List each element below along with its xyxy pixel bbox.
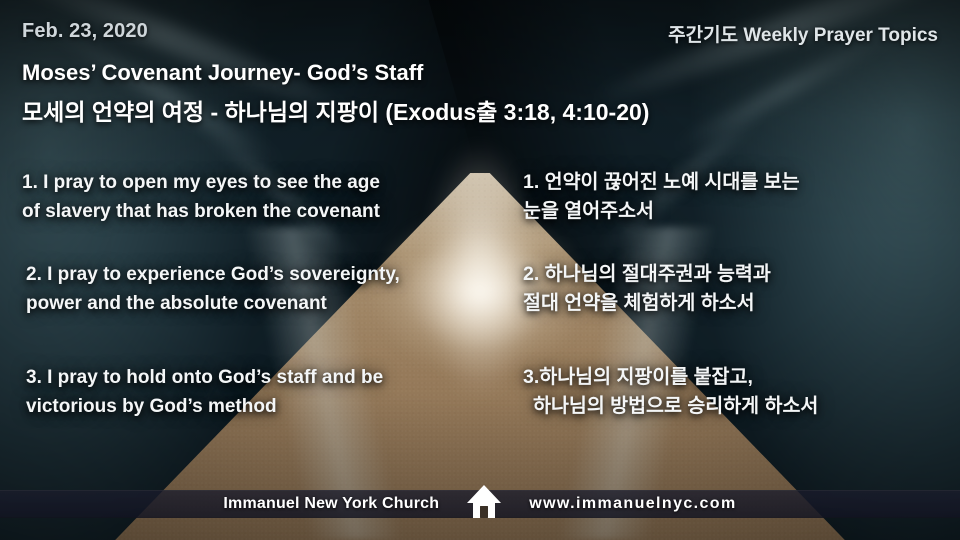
prayer-point-line: 하나님의 방법으로 승리하게 하소서: [523, 392, 818, 421]
church-name: Immanuel New York Church: [223, 495, 439, 513]
prayer-point-line: 절대 언약을 체험하게 하소서: [523, 289, 771, 318]
prayer-point-line: 2. I pray to experience God’s sovereignt…: [26, 260, 400, 289]
prayer-point-line: victorious by God’s method: [26, 392, 383, 421]
prayer-point-line: 2. 하나님의 절대주권과 능력과: [523, 260, 771, 289]
church-house-icon: [461, 478, 507, 524]
page-title-korean: 모세의 언약의 여정 - 하나님의 지팡이 (Exodus출 3:18, 4:1…: [22, 93, 649, 127]
prayer-point-line: 3. I pray to hold onto God’s staff and b…: [26, 363, 383, 392]
prayer-point-en-3: 3. I pray to hold onto God’s staff and b…: [26, 363, 383, 421]
prayer-point-line: of slavery that has broken the covenant: [22, 197, 380, 226]
prayer-point-en-2: 2. I pray to experience God’s sovereignt…: [26, 260, 400, 318]
prayer-point-line: 1. I pray to open my eyes to see the age: [22, 168, 380, 197]
prayer-point-line: 1. 언약이 끊어진 노예 시대를 보는: [523, 168, 800, 197]
prayer-slide: Feb. 23, 2020 주간기도 Weekly Prayer Topics …: [0, 0, 960, 540]
series-label: 주간기도 Weekly Prayer Topics: [668, 20, 938, 47]
footer-content: Immanuel New York Church www.immanuelnyc…: [0, 487, 960, 521]
website-url: www.immanuelnyc.com: [529, 495, 736, 513]
slide-date: Feb. 23, 2020: [22, 20, 148, 43]
prayer-point-line: power and the absolute covenant: [26, 289, 400, 318]
slide-content: Feb. 23, 2020 주간기도 Weekly Prayer Topics …: [0, 0, 960, 540]
prayer-point-ko-1: 1. 언약이 끊어진 노예 시대를 보는 눈을 열어주소서: [523, 168, 800, 226]
page-title-english: Moses’ Covenant Journey- God’s Staff: [22, 60, 423, 86]
prayer-point-en-1: 1. I pray to open my eyes to see the age…: [22, 168, 380, 226]
prayer-point-line: 3.하나님의 지팡이를 붙잡고,: [523, 363, 818, 392]
prayer-point-line: 눈을 열어주소서: [523, 197, 800, 226]
prayer-point-ko-3: 3.하나님의 지팡이를 붙잡고, 하나님의 방법으로 승리하게 하소서: [523, 363, 818, 421]
prayer-point-ko-2: 2. 하나님의 절대주권과 능력과 절대 언약을 체험하게 하소서: [523, 260, 771, 318]
